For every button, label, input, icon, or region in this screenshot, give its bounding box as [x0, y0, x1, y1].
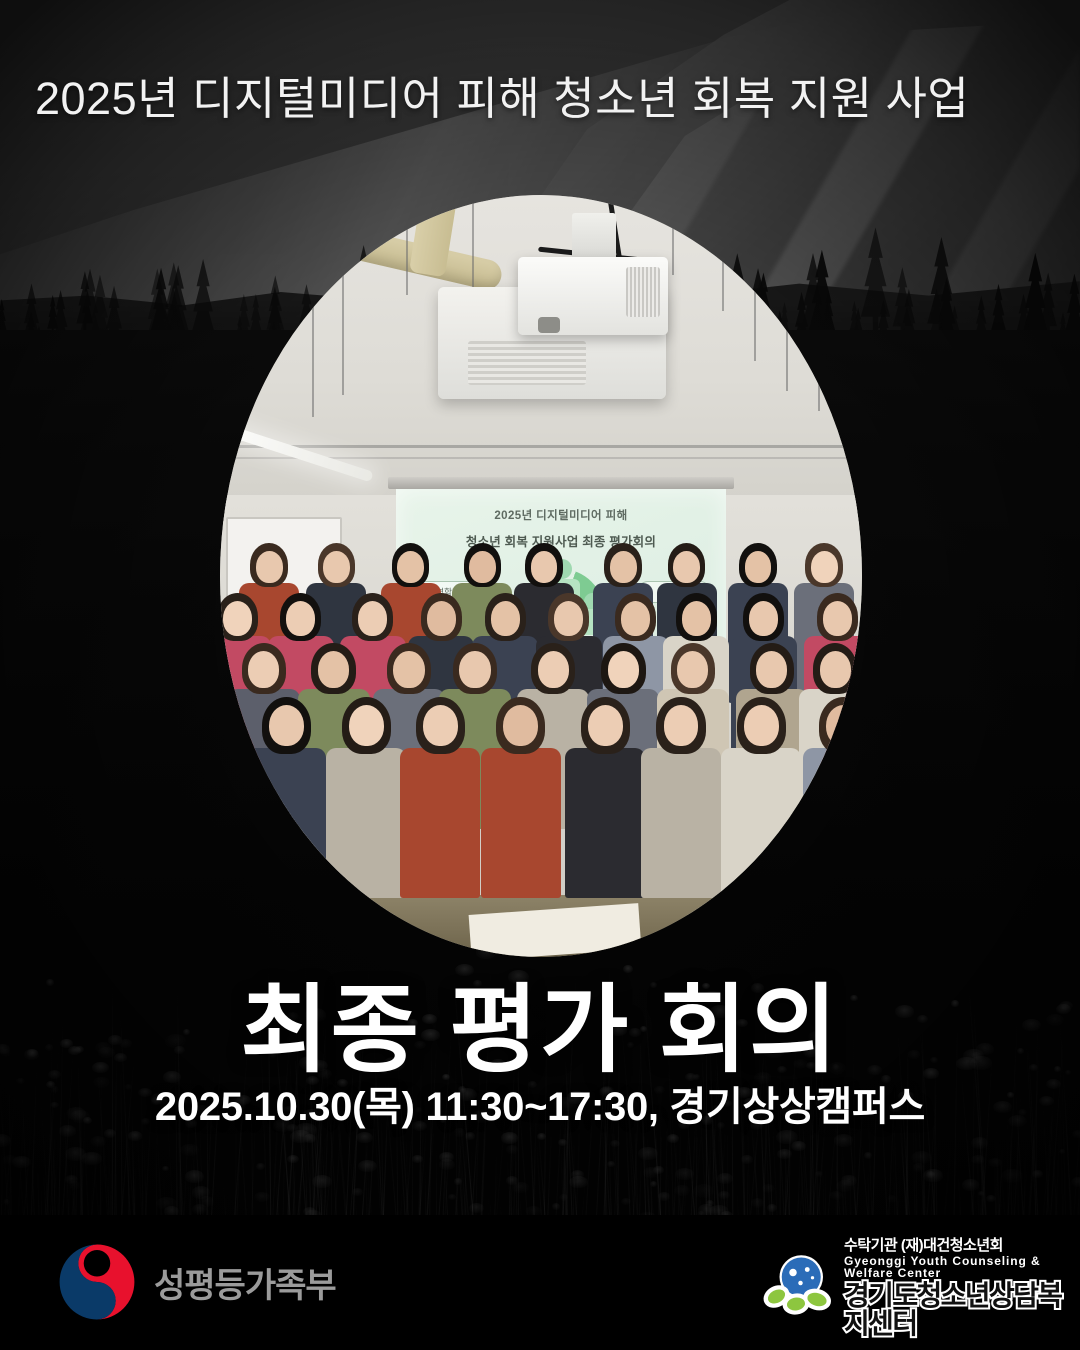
- ceiling-rod: [406, 195, 408, 295]
- attendee-face: [588, 705, 623, 746]
- attendee-body: [565, 748, 645, 898]
- attendee-face: [349, 705, 384, 746]
- ceiling-vent: [730, 225, 788, 235]
- attendee-face: [323, 551, 350, 583]
- ceiling-rod: [754, 221, 756, 361]
- projector-mount: [572, 213, 616, 261]
- attendee-face: [744, 705, 779, 746]
- projector-lens: [538, 317, 560, 333]
- attendee-body: [326, 748, 406, 898]
- attendee-face: [248, 651, 279, 688]
- attendee-body: [641, 748, 721, 898]
- attendee-face: [256, 551, 283, 583]
- attendee-face: [673, 551, 700, 583]
- center-logo-line2: Gyeonggi Youth Counseling & Welfare Cent…: [844, 1255, 1080, 1279]
- attendee-face: [358, 601, 387, 636]
- attendee-face: [811, 551, 838, 583]
- center-logo-line1: 수탁기관 (재)대건청소년회: [844, 1238, 1080, 1253]
- event-datetime-venue: 2025.10.30(목) 11:30~17:30, 경기상상캠퍼스: [0, 1074, 1080, 1132]
- page-title: 2025년 디지털미디어 피해 청소년 회복 지원 사업: [35, 62, 1055, 127]
- attendee-body: [481, 748, 561, 898]
- ceiling-beam: [220, 445, 862, 448]
- attendee-face: [664, 705, 699, 746]
- projection-screen-frame: [388, 477, 734, 489]
- attendee-body: [803, 748, 862, 898]
- attendee-face: [682, 601, 711, 636]
- attendee-body: [400, 748, 480, 898]
- taegeuk-icon: [58, 1243, 136, 1321]
- attendee-face: [538, 651, 569, 688]
- attendee-face: [286, 601, 315, 636]
- center-logo: 수탁기관 (재)대건청소년회 Gyeonggi Youth Counseling…: [760, 1238, 1080, 1338]
- attendee-face: [503, 705, 538, 746]
- attendee-face: [820, 651, 851, 688]
- attendee-face: [756, 651, 787, 688]
- air-conditioner-grille: [468, 341, 586, 385]
- attendee-face: [554, 601, 583, 636]
- attendee-face: [621, 601, 650, 636]
- main-headline: 최종 평가 회의: [0, 952, 1080, 1091]
- attendee-face: [423, 705, 458, 746]
- attendee-face: [427, 601, 456, 636]
- globe-leaf-icon: [760, 1253, 834, 1323]
- projector-vent: [626, 267, 660, 317]
- attendee-face: [826, 705, 861, 746]
- attendee-face: [223, 601, 252, 636]
- ceiling-rod: [472, 195, 474, 287]
- ceiling-rod: [312, 287, 314, 417]
- attendee-face: [269, 705, 304, 746]
- ceiling-rod: [786, 241, 788, 391]
- screen-title-line1: 2025년 디지털미디어 피해: [396, 507, 726, 523]
- attendee-face: [469, 551, 496, 583]
- attendee-face: [823, 601, 852, 636]
- attendee-face: [397, 551, 424, 583]
- poster-canvas: 2025년 디지털미디어 피해 청소년 회복 지원 사업: [0, 0, 1080, 1350]
- ceiling-rod: [722, 201, 724, 311]
- attendee-face: [459, 651, 490, 688]
- attendee-face: [491, 601, 520, 636]
- attendee-face: [749, 601, 778, 636]
- attendee-face: [745, 551, 772, 583]
- attendee-face: [318, 651, 349, 688]
- government-logo-label: 성평등가족부: [154, 1258, 336, 1307]
- group-photo-oval: 2025년 디지털미디어 피해 청소년 회복 지원사업 최종 평가회의 환영합니…: [220, 195, 862, 957]
- meeting-room-scene: 2025년 디지털미디어 피해 청소년 회복 지원사업 최종 평가회의 환영합니…: [220, 195, 862, 957]
- ceiling-rod: [818, 261, 820, 411]
- attendee-face: [608, 651, 639, 688]
- center-logo-line3: 경기도청소년상담복지센터: [844, 1282, 1080, 1338]
- attendee-face: [393, 651, 424, 688]
- attendee-face: [610, 551, 637, 583]
- attendee-body: [246, 748, 326, 898]
- attendee-body: [721, 748, 801, 898]
- ceiling-rod: [342, 265, 344, 395]
- attendee-face: [531, 551, 558, 583]
- attendee-face: [677, 651, 708, 688]
- center-logo-texts: 수탁기관 (재)대건청소년회 Gyeonggi Youth Counseling…: [844, 1238, 1080, 1338]
- government-logo: 성평등가족부: [58, 1243, 336, 1321]
- ceiling-rod: [672, 195, 674, 275]
